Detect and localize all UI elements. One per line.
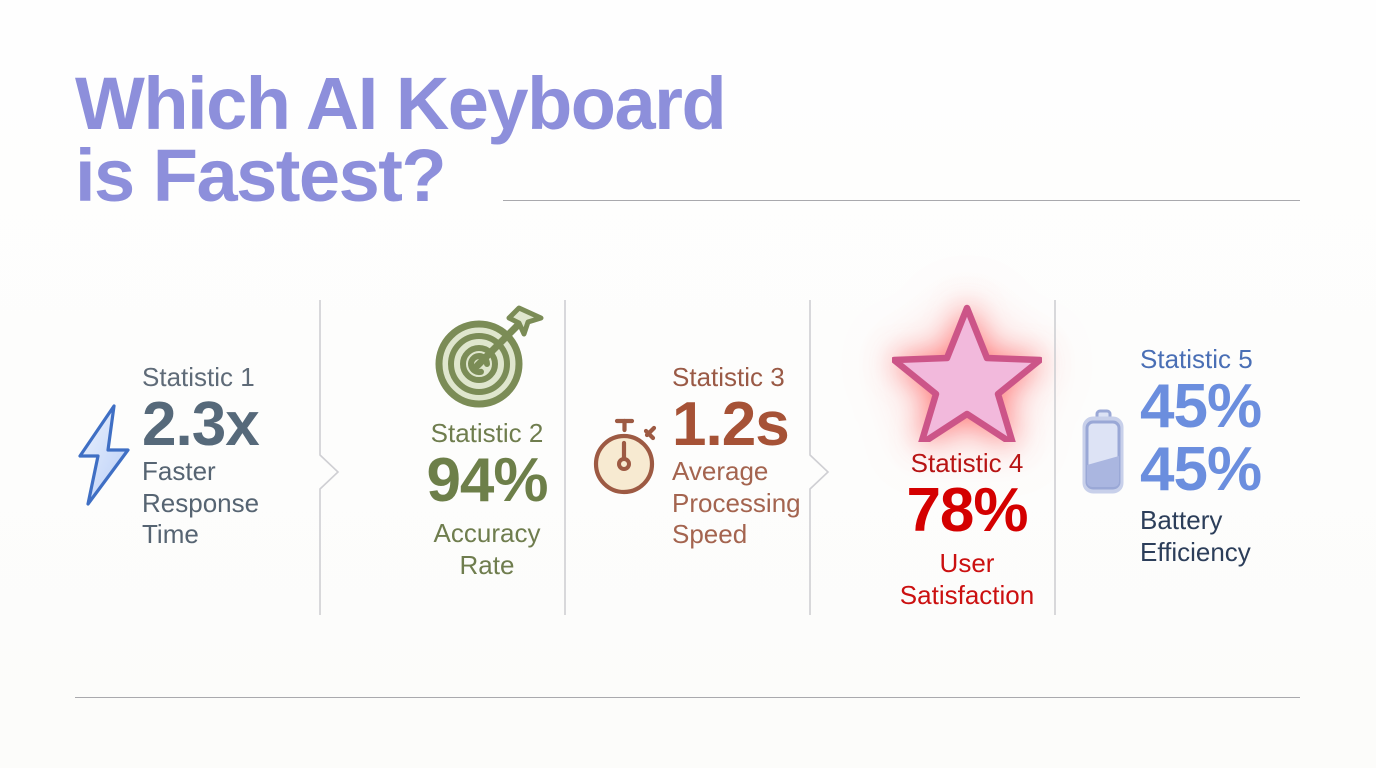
stat-label-3: Statistic 3 — [672, 363, 801, 393]
stat-value-5: 45% — [1140, 375, 1261, 438]
stat-desc-4-line-2: Satisfaction — [900, 580, 1034, 612]
stat-desc-2: Accuracy Rate — [426, 518, 547, 581]
stat-value-1: 2.3x — [142, 393, 259, 456]
stat-desc-3-line-2: Processing — [672, 488, 801, 520]
statistics-strip: Statistic 1 2.3x Faster Response Time — [62, 298, 1317, 616]
stat-desc-1-line-2: Response — [142, 488, 259, 520]
target-bullseye-icon — [427, 302, 547, 415]
stat-value-3: 1.2s — [672, 393, 801, 456]
bottom-divider-rule — [75, 697, 1300, 698]
stat-label-4: Statistic 4 — [900, 449, 1034, 479]
stat-desc-5-line-1: Battery — [1140, 505, 1261, 537]
stat-desc-3-line-1: Average — [672, 456, 801, 488]
divider-2 — [563, 300, 587, 615]
stat-text-4: Statistic 4 78% User Satisfaction — [900, 447, 1034, 611]
lightning-bolt-icon — [72, 403, 136, 512]
stat-label-2: Statistic 2 — [426, 419, 547, 449]
stat-desc-3: Average Processing Speed — [672, 456, 801, 551]
stat-desc-4: User Satisfaction — [900, 548, 1034, 611]
stat-desc-2-line-1: Accuracy — [426, 518, 547, 550]
stat-desc-4-line-1: User — [900, 548, 1034, 580]
stat-card-4[interactable]: Statistic 4 78% User Satisfaction — [862, 298, 1072, 616]
stat-value-5-secondary: 45% — [1140, 438, 1261, 501]
star-icon — [892, 302, 1042, 447]
stat-text-5: Statistic 5 45% 45% Battery Efficiency — [1140, 345, 1261, 569]
stat-desc-5: Battery Efficiency — [1140, 505, 1261, 568]
title-line-1: Which AI Keyboard — [75, 68, 835, 140]
stopwatch-icon — [590, 409, 666, 506]
divider-4 — [1053, 300, 1077, 615]
stat-text-3: Statistic 3 1.2s Average Processing Spee… — [672, 363, 801, 551]
stat-desc-1-line-3: Time — [142, 519, 259, 551]
stat-label-5: Statistic 5 — [1140, 345, 1261, 375]
divider-3 — [808, 300, 832, 615]
stat-label-1: Statistic 1 — [142, 363, 259, 393]
stat-card-5[interactable]: Statistic 5 45% 45% Battery Efficiency — [1072, 298, 1317, 616]
stat-desc-3-line-3: Speed — [672, 519, 801, 551]
stat-card-1[interactable]: Statistic 1 2.3x Faster Response Time — [72, 298, 322, 616]
stat-desc-5-line-2: Efficiency — [1140, 537, 1261, 569]
stat-text-2: Statistic 2 94% Accuracy Rate — [426, 415, 547, 581]
battery-icon — [1072, 403, 1134, 512]
stat-text-1: Statistic 1 2.3x Faster Response Time — [142, 363, 259, 551]
stat-desc-1: Faster Response Time — [142, 456, 259, 551]
page-title: Which AI Keyboard is Fastest? — [75, 68, 835, 212]
stat-value-2: 94% — [426, 449, 547, 512]
stat-value-4: 78% — [900, 479, 1034, 542]
divider-1 — [318, 300, 342, 615]
stat-desc-1-line-1: Faster — [142, 456, 259, 488]
stat-card-3[interactable]: Statistic 3 1.2s Average Processing Spee… — [590, 298, 840, 616]
stat-desc-2-line-2: Rate — [426, 550, 547, 582]
title-divider-rule — [503, 200, 1300, 201]
